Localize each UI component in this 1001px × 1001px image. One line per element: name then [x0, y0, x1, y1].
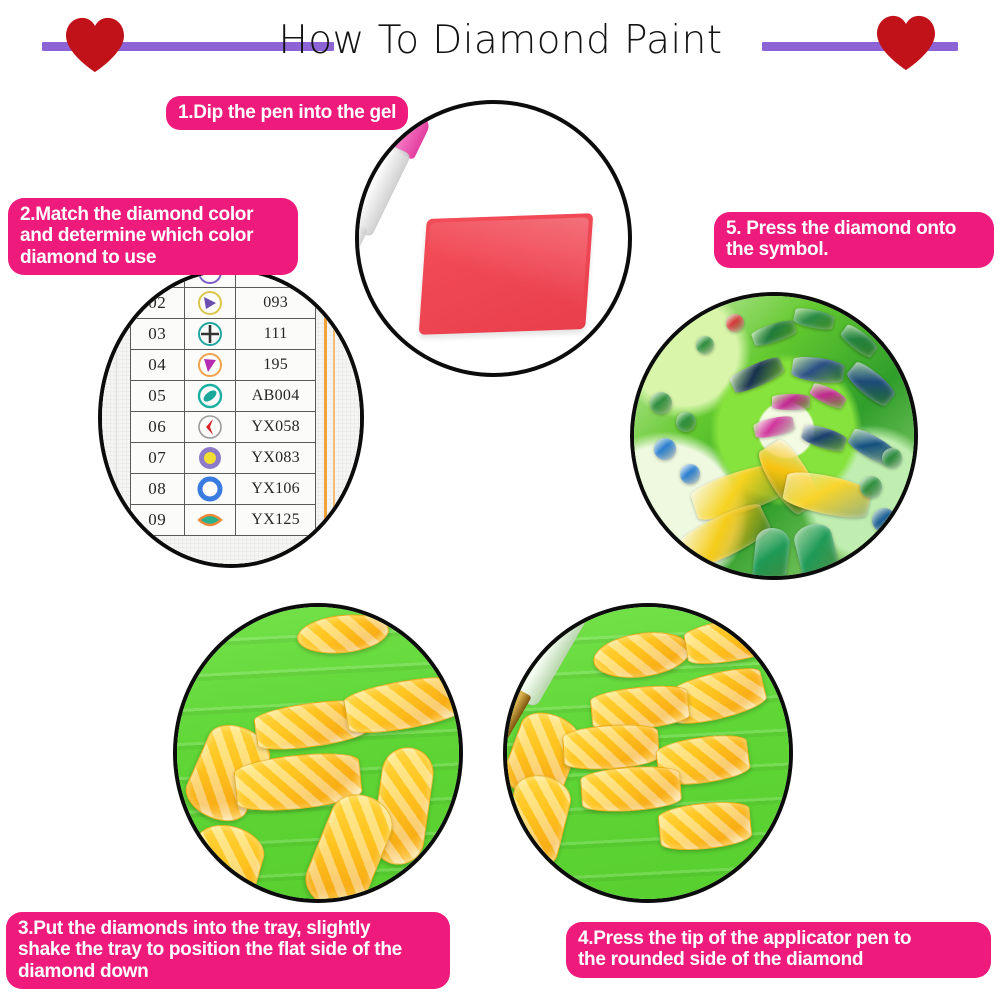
canvas-orange-guide-a: [324, 272, 327, 564]
slash-oval-circle-icon: [184, 381, 236, 412]
legend-row: 08YX106: [131, 474, 316, 505]
legend-table-body: 0102002093031110419505AB00406YX05807YX08…: [131, 268, 316, 536]
step-1-photo: [355, 100, 632, 377]
mandala-gem: [751, 526, 791, 580]
legend-row: 07YX083: [131, 443, 316, 474]
legend-row-code: YX058: [236, 412, 316, 443]
mandala-gem: [680, 464, 700, 484]
step-1-scene: [359, 104, 628, 373]
yellow-dot-circle-icon: [184, 443, 236, 474]
step-2-photo: 0102002093031110419505AB00406YX05807YX08…: [98, 268, 364, 568]
legend-row: 03111: [131, 319, 316, 350]
infographic-page: How To Diamond Paint 1.Dip the pen into …: [0, 0, 1001, 1001]
legend-row-number: 09: [131, 505, 185, 536]
blue-ring-circle-icon: [184, 474, 236, 505]
canvas-gridline: [116, 272, 117, 564]
step-3-label: 3.Put the diamonds into the tray, slight…: [6, 912, 450, 989]
step-1-label-line-1: 1.Dip the pen into the gel: [178, 102, 396, 123]
step-2-label-line-1: 2.Match the diamond color: [20, 204, 286, 225]
mandala-gem: [772, 394, 810, 410]
legend-row-number: 07: [131, 443, 185, 474]
step-5-photo: [630, 292, 918, 580]
mandala-gem: [676, 412, 696, 432]
step-5-label-line-2: the symbol.: [726, 239, 982, 260]
canvas-orange-guide-b: [333, 272, 335, 564]
page-title: How To Diamond Paint: [0, 18, 1001, 63]
mandala-gem: [650, 392, 672, 414]
legend-row-number: 04: [131, 350, 185, 381]
filled-triangle-circle-icon: [184, 288, 236, 319]
legend-row-code: YX106: [236, 474, 316, 505]
pen-barrel: [355, 137, 411, 237]
step-2-label: 2.Match the diamond color and determine …: [8, 198, 298, 275]
mandala-gem: [654, 438, 676, 460]
magenta-triangle-circle-icon: [184, 350, 236, 381]
step-4-scene: [507, 607, 789, 899]
header-banner: How To Diamond Paint: [0, 0, 1001, 92]
mandala-gem: [872, 508, 896, 532]
mandala-gem: [882, 448, 902, 468]
legend-row-code: AB004: [236, 381, 316, 412]
plus-circle-icon: [184, 319, 236, 350]
mandala-gem: [696, 336, 714, 354]
step-4-photo: [503, 603, 793, 903]
color-legend-table: 0102002093031110419505AB00406YX05807YX08…: [130, 268, 316, 536]
step-2-label-line-3: diamond to use: [20, 247, 286, 268]
legend-row-code: 093: [236, 288, 316, 319]
legend-row-code: YX125: [236, 505, 316, 536]
legend-row-number: 02: [131, 288, 185, 319]
green-leaf-marquise-icon: [184, 505, 236, 536]
step-3-scene: [177, 607, 459, 899]
legend-row: 09YX125: [131, 505, 316, 536]
step-3-photo: [173, 603, 463, 903]
legend-row: 05AB004: [131, 381, 316, 412]
step-4-label: 4.Press the tip of the applicator pen to…: [566, 922, 991, 978]
legend-row-code: 111: [236, 319, 316, 350]
mandala-gem: [726, 314, 744, 332]
legend-row: 04195: [131, 350, 316, 381]
step-5-label: 5. Press the diamond onto the symbol.: [714, 212, 994, 268]
step-4-label-line-1: 4.Press the tip of the applicator pen to: [578, 928, 979, 949]
step-2-label-line-2: and determine which color: [20, 225, 286, 246]
gel-pad: [419, 213, 594, 335]
legend-row: 02093: [131, 288, 316, 319]
mandala-canvas-scene: [634, 296, 914, 576]
legend-chart-scene: 0102002093031110419505AB00406YX05807YX08…: [102, 272, 360, 564]
heart-icon-right: [875, 14, 937, 72]
step-3-label-line-2: shake the tray to position the flat side…: [18, 939, 438, 960]
legend-row: 06YX058: [131, 412, 316, 443]
step-1-label: 1.Dip the pen into the gel: [166, 96, 408, 130]
legend-row-number: 08: [131, 474, 185, 505]
step-4-label-line-2: the rounded side of the diamond: [578, 949, 979, 970]
step-5-label-line-1: 5. Press the diamond onto: [726, 218, 982, 239]
red-arrow-circle-icon: [184, 412, 236, 443]
legend-row-code: YX083: [236, 443, 316, 474]
legend-row-number: 05: [131, 381, 185, 412]
step-3-label-line-1: 3.Put the diamonds into the tray, slight…: [18, 918, 438, 939]
step-3-label-line-3: diamond down: [18, 961, 438, 982]
legend-row-code: 195: [236, 350, 316, 381]
legend-row-number: 06: [131, 412, 185, 443]
legend-row-number: 03: [131, 319, 185, 350]
mandala-gem: [860, 476, 882, 498]
